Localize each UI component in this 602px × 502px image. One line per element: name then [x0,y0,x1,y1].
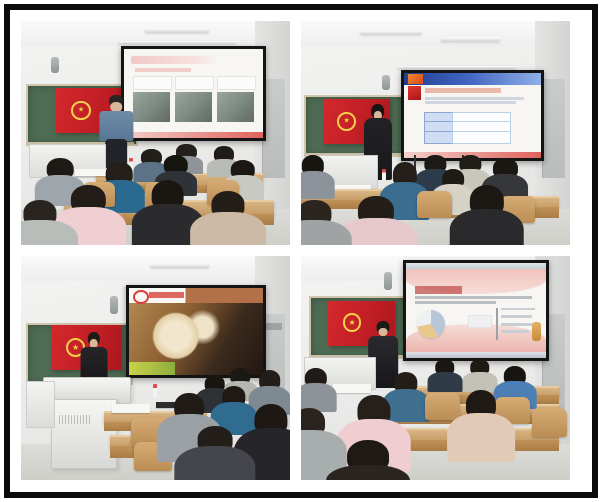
student-seated [344,196,409,245]
slide-logo-text [149,292,184,297]
slide-table-header-cell [424,131,453,144]
photo-grid: ★ [21,21,581,485]
slide-flag-graphic [408,74,423,84]
water-bottle [153,384,157,398]
student-seated [430,359,460,390]
student-seated [21,200,69,245]
projector-unit [382,75,390,91]
slide-subtitle [135,68,191,72]
flag-star-emblem: ★ [343,313,362,332]
screen-rail [398,66,516,69]
flag-star-emblem: ★ [337,112,356,131]
ceiling-light [360,30,422,35]
wall-cabinet [26,381,55,428]
student-seated [454,390,508,453]
projector-screen [126,285,267,378]
ceiling [301,21,570,46]
ceiling-light [441,37,500,42]
screen-rail [118,41,236,44]
frame-border-right [592,4,598,498]
student-seated [139,180,195,243]
classroom-door [542,79,565,178]
slide-heading [415,286,463,294]
photo-bottom-left[interactable]: ★ [21,256,290,480]
slide-text-line [425,101,516,104]
slide-bottom-left [129,288,264,375]
flag-star-glyph: ★ [78,107,84,114]
photo-collage-frame: ★ [0,0,602,502]
frame-border-bottom [4,492,598,498]
papers-on-desk [333,384,371,393]
projector-screen [403,260,549,360]
student-shoulders [190,212,266,245]
slide-top-left [124,49,264,139]
slide-taskbar [406,352,546,358]
student-shoulders [449,209,524,245]
flag-star-emblem: ★ [71,101,90,120]
student-shoulders [21,220,78,245]
slide-thumb-1 [133,92,169,122]
slide-text-line [425,97,524,100]
student-shoulders [301,171,334,199]
student-seated [182,426,247,480]
student-seated [457,185,516,245]
slide-table-cell [452,131,512,144]
slide-list-item [501,330,529,333]
student-seated [465,359,495,390]
flag-star-glyph: ★ [72,343,79,351]
slide-list-item [501,315,532,318]
slide-caption-3 [217,76,255,90]
student-shoulders [326,465,410,480]
flag-star-glyph: ★ [344,118,350,125]
slide-footer-bar [124,132,264,138]
slide-banner [404,73,541,85]
papers-on-desk [112,404,150,413]
slide-label-box [468,315,492,328]
student-seated [301,155,331,195]
slide-title-bar [131,56,218,64]
photo-top-right[interactable]: ★ [301,21,570,245]
slide-top-right [404,73,541,158]
flag-star-glyph: ★ [348,319,355,327]
frame-border-left [4,4,10,498]
slide-heading [425,88,500,93]
chair-back [532,408,567,437]
slide-caption-2 [175,76,213,90]
slide-list-item [501,323,535,326]
slide-bottom-right [406,263,546,357]
projector-unit [51,57,59,73]
door-vent [266,323,282,330]
student-seated [301,368,333,408]
slide-bracket [496,308,498,340]
projector-screen [401,70,544,161]
chair-back [417,191,452,218]
student-seated [301,200,344,245]
projector-screen [121,46,267,142]
student-shoulders [462,372,497,393]
photo-bottom-right[interactable]: ★ [301,256,570,480]
slide-thumb-2 [175,92,211,122]
ceiling-light [150,263,209,268]
student-shoulders [174,446,255,480]
ceiling [21,256,290,281]
student-shoulders [427,372,462,393]
student-seated [333,440,403,480]
slide-decor-figure [532,322,540,341]
slide-photo-footer [129,362,175,376]
frame-border-top [4,4,598,10]
slide-text-line [415,296,532,299]
student-shoulders [301,383,337,411]
student-seated [199,191,258,245]
photo-top-left[interactable]: ★ [21,21,290,245]
projector-unit [384,272,392,290]
projector-unit [110,296,118,314]
slide-text-line [415,301,496,304]
slide-thumb-3 [217,92,253,122]
slide-red-marker [408,86,422,100]
lectern-grill [59,415,91,424]
slide-list-item [501,308,535,311]
presenter-jacket [100,111,133,141]
ceiling-light [145,28,210,33]
slide-pie-chart [417,310,445,338]
slide-caption-1 [133,76,171,90]
student-shoulders [447,413,515,462]
